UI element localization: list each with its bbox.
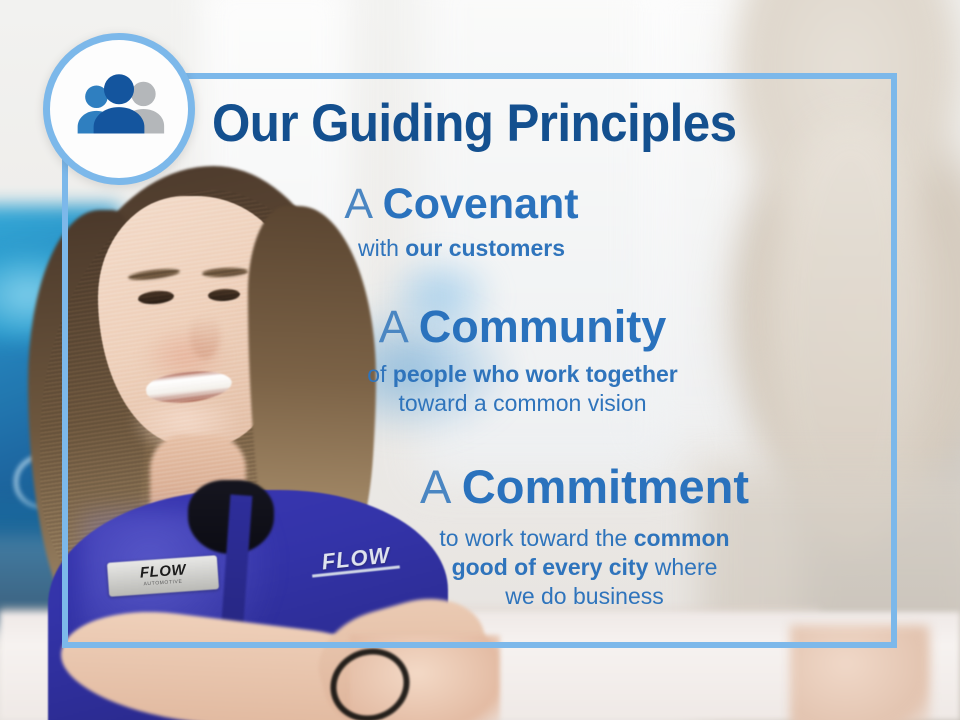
principle-article: A	[344, 180, 370, 228]
principle-subtext-commitment: to work toward the common good of every …	[276, 524, 893, 611]
people-group-icon	[72, 73, 166, 145]
principle-keyword: Community	[419, 301, 667, 352]
principle-block-community: A Community of people who work together …	[62, 303, 897, 419]
principle-article: A	[420, 460, 449, 513]
principle-block-covenant: A Covenant with our customers	[62, 182, 897, 263]
principle-headline-community: A Community	[158, 303, 887, 351]
subtext-run-bold: people who work together	[393, 361, 678, 387]
principle-subtext-line: toward a common vision	[158, 389, 887, 418]
principle-subtext-community: of people who work together toward a com…	[158, 360, 887, 418]
subtext-run: with	[358, 235, 405, 261]
subtext-run-bold: our customers	[405, 235, 565, 261]
customer-hand	[790, 625, 930, 720]
principle-subtext-line: we do business	[276, 582, 893, 611]
principle-subtext-covenant: with our customers	[62, 234, 861, 263]
subtext-run: we do business	[505, 583, 664, 609]
subtext-run-bold: common	[634, 525, 730, 551]
subtext-run: of	[367, 361, 393, 387]
subtext-run: to work toward the	[439, 525, 633, 551]
principle-block-commitment: A Commitment to work toward the common g…	[62, 462, 897, 611]
page-title: Our Guiding Principles	[212, 96, 826, 151]
principle-keyword: Covenant	[383, 180, 579, 228]
principle-article: A	[379, 301, 407, 352]
principle-subtext-line: with our customers	[62, 234, 861, 263]
principle-headline-commitment: A Commitment	[276, 462, 893, 512]
principle-subtext-line: of people who work together	[158, 360, 887, 389]
subtext-run-bold: good of every city	[452, 554, 649, 580]
principle-keyword: Commitment	[462, 460, 749, 513]
principle-subtext-line: good of every city where	[276, 553, 893, 582]
guiding-principles-banner: FLOW AUTOMOTIVE FLOW Our Guiding Princip…	[0, 0, 960, 720]
principles-list: A Covenant with our customers A Communit…	[62, 182, 897, 615]
subtext-run: toward a common vision	[399, 390, 647, 416]
people-group-badge	[43, 33, 195, 185]
principle-subtext-line: to work toward the common	[276, 524, 893, 553]
principle-headline-covenant: A Covenant	[62, 182, 861, 228]
subtext-run: where	[648, 554, 717, 580]
